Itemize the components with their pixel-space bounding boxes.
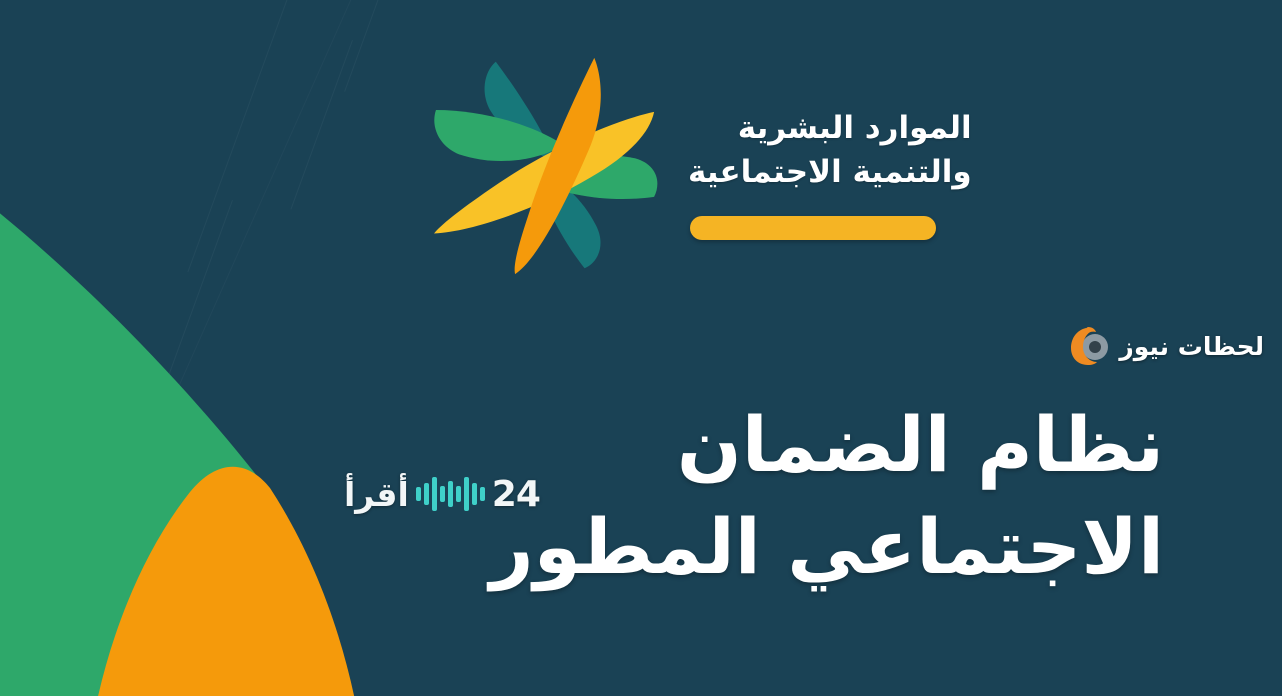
iqra-word: أقرأ [344,475,409,514]
waveform-bar-1 [480,487,485,501]
ministry-accent-bar [690,216,936,240]
ministry-lockup: الموارد البشرية والتنمية الاجتماعية [430,52,1010,302]
waveform-bar-9 [416,487,421,501]
watermark: لحظات نيوز [1066,325,1264,367]
waveform-bar-3 [464,477,469,511]
waveform-bar-6 [440,486,445,502]
ministry-star-logo [430,54,662,276]
waveform-bar-4 [456,486,461,502]
iqra-number: 24 [492,474,540,515]
waveform-bar-5 [448,481,453,507]
streak-5 [177,0,353,389]
ministry-line-2: والتنمية الاجتماعية [688,150,972,194]
audio-waveform-icon [413,474,488,514]
petal-orange [84,467,370,696]
poster-canvas: الموارد البشرية والتنمية الاجتماعية لحظا… [0,0,1282,696]
petal-green [0,80,290,696]
streak-4 [143,200,233,445]
streak-3 [344,0,393,92]
watermark-label: لحظات نيوز [1119,332,1264,361]
ministry-text-block: الموارد البشرية والتنمية الاجتماعية [688,52,972,240]
streak-1 [187,0,291,272]
waveform-bar-7 [432,477,437,511]
waveform-bar-8 [424,483,429,505]
waveform-bar-2 [472,483,477,505]
ministry-line-1: الموارد البشرية [688,106,972,150]
iqra24-badge: أقرأ 24 [344,468,540,520]
streak-2 [290,40,353,210]
lahazat-news-logo-icon [1066,325,1110,367]
